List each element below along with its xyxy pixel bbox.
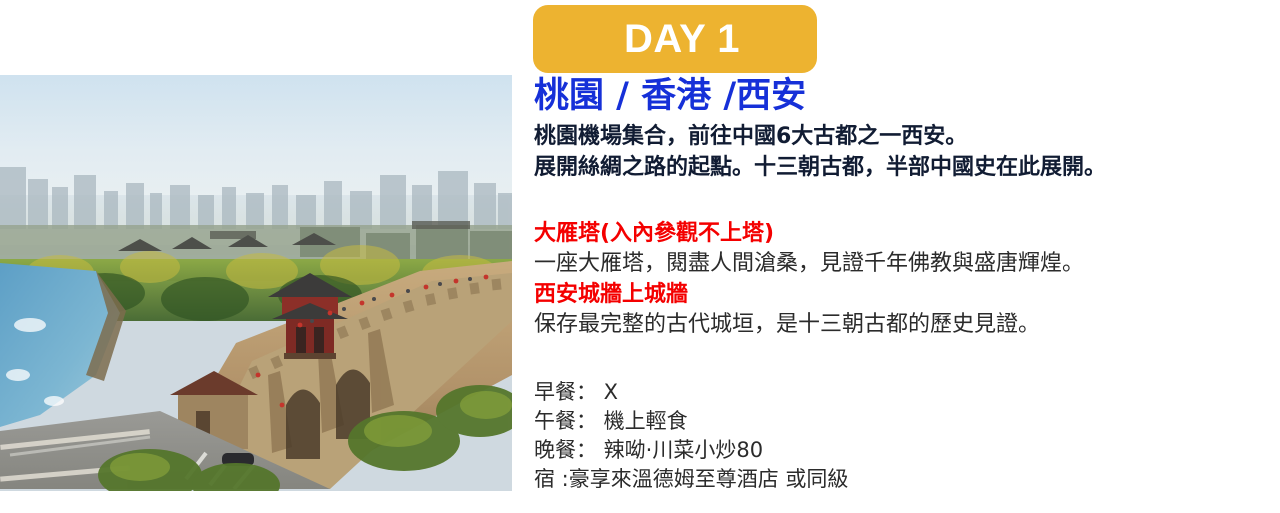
day-badge-label: DAY 1 — [624, 19, 740, 59]
itinerary-day-page: DAY 1 桃園 / 香港 /西安 桃園機場集合，前往中國6大古都之一西安。 展… — [0, 0, 1280, 513]
intro-line-2: 展開絲綢之路的起點。十三朝古都，半部中國史在此展開。 — [534, 152, 1264, 183]
destination-photo — [0, 75, 512, 491]
attraction-description: 保存最完整的古代城垣，是十三朝古都的歷史見證。 — [534, 311, 1264, 340]
day-content: DAY 1 桃園 / 香港 /西安 桃園機場集合，前往中國6大古都之一西安。 展… — [533, 0, 1268, 513]
intro-paragraph: 桃園機場集合，前往中國6大古都之一西安。 展開絲綢之路的起點。十三朝古都，半部中… — [534, 121, 1264, 183]
attractions-list: 大雁塔(入內參觀不上塔) 一座大雁塔，閱盡人間滄桑，見證千年佛教與盛唐輝煌。 西… — [534, 220, 1264, 342]
day-badge: DAY 1 — [533, 5, 817, 73]
breakfast-line: 早餐： X — [534, 378, 1234, 407]
meals-and-lodging: 早餐： X 午餐： 機上輕食 晚餐： 辣呦·川菜小炒80 宿 :豪享來溫德姆至尊… — [534, 378, 1234, 494]
xian-city-wall-image — [0, 75, 512, 491]
intro-line-1: 桃園機場集合，前往中國6大古都之一西安。 — [534, 121, 1264, 152]
attraction-description: 一座大雁塔，閱盡人間滄桑，見證千年佛教與盛唐輝煌。 — [534, 250, 1264, 279]
attraction-heading: 大雁塔(入內參觀不上塔) — [534, 220, 1264, 249]
lunch-line: 午餐： 機上輕食 — [534, 407, 1234, 436]
route-title: 桃園 / 香港 /西安 — [534, 78, 806, 116]
lodging-line: 宿 :豪享來溫德姆至尊酒店 或同級 — [534, 465, 1234, 494]
attraction-heading: 西安城牆上城牆 — [534, 281, 1264, 310]
dinner-line: 晚餐： 辣呦·川菜小炒80 — [534, 436, 1234, 465]
